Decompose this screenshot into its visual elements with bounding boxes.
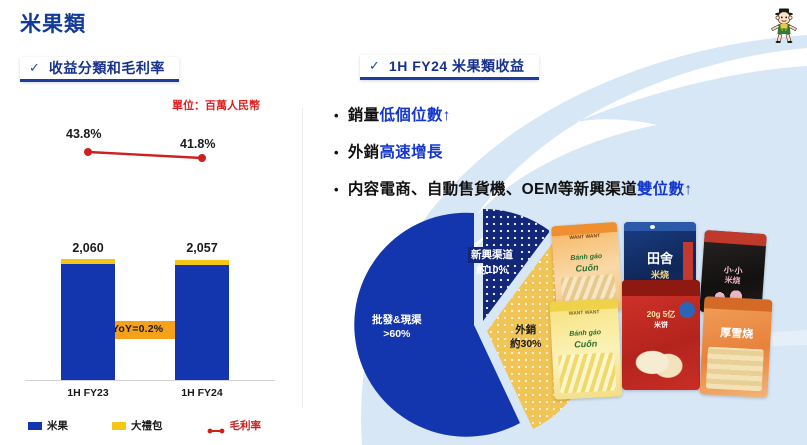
highlights-bullet-list: • 銷量 低個位數↑ • 外銷 高速增長 • 内容電商、自動售貨機、OEM等新興… — [334, 103, 804, 214]
product-image-want-want-red-box: 20g 5亿 米饼 — [622, 280, 700, 390]
bar-segment-rice-cracker-fy24 — [175, 265, 229, 380]
bar-segment-rice-cracker-fy23 — [61, 264, 115, 380]
pie-label-new-channels: 新興渠道 約10% — [468, 247, 516, 277]
slide-canvas: 米果類 ✓ 收益分類和毛利率 ✓ 1H FY24 米果類收益 單位：百萬人民幣 … — [0, 0, 807, 445]
category-label-fy24: 1H FY24 — [170, 387, 234, 399]
bullet-dot-icon: • — [334, 146, 339, 159]
product-name-line1: 厚雪烧 — [702, 326, 771, 342]
bullet-text-highlight: 雙位數↑ — [637, 177, 692, 199]
chart-legend: 米果 大禮包 毛利率 — [28, 418, 261, 433]
legend-label: 大禮包 — [131, 418, 163, 433]
legend-item-gross-margin[interactable]: 毛利率 — [207, 418, 262, 433]
chart-axis-line — [25, 380, 275, 381]
legend-item-gift-pack[interactable]: 大禮包 — [112, 418, 163, 433]
list-item: • 銷量 低個位數↑ — [334, 103, 804, 125]
panel-divider — [302, 108, 303, 408]
want-want-mascot-icon — [764, 3, 804, 43]
bullet-text-plain: 銷量 — [348, 103, 380, 125]
legend-swatch-yellow — [112, 422, 126, 430]
product-name-line2: 米饼 — [622, 322, 700, 330]
section-header-label: 1H FY24 米果類收益 — [389, 56, 525, 76]
check-icon: ✓ — [369, 59, 380, 72]
bullet-dot-icon: • — [334, 183, 339, 196]
legend-label: 米果 — [47, 418, 68, 433]
bullet-text-highlight: 低個位數↑ — [379, 103, 450, 125]
product-name-line2: Cuốn — [552, 337, 620, 351]
list-item: • 外銷 高速增長 — [334, 140, 804, 162]
category-label-fy23: 1H FY23 — [56, 387, 120, 399]
section-header-label: 收益分類和毛利率 — [49, 58, 165, 78]
page-title: 米果類 — [20, 8, 86, 38]
section-header-fy24-revenue[interactable]: ✓ 1H FY24 米果類收益 — [360, 55, 539, 80]
list-item: • 内容電商、自動售貨機、OEM等新興渠道 雙位數↑ — [334, 177, 804, 199]
bar-total-label-fy24: 2,057 — [170, 241, 234, 255]
legend-item-rice-cracker[interactable]: 米果 — [28, 418, 68, 433]
section-header-revenue-breakdown[interactable]: ✓ 收益分類和毛利率 — [20, 57, 179, 82]
bullet-dot-icon: • — [334, 109, 339, 122]
legend-line-marker-red — [207, 422, 225, 430]
bar-total-label-fy23: 2,060 — [56, 241, 120, 255]
yoy-arrow-label: YoY=0.2% — [112, 323, 163, 335]
bullet-text-plain: 内容電商、自動售貨機、OEM等新興渠道 — [348, 177, 637, 199]
pie-label-wholesale: 批發&現渠 >60% — [372, 313, 422, 341]
bullet-text-highlight: 高速增長 — [379, 140, 442, 162]
revenue-bar-chart: 43.8% 41.8% YoY=0.2% 2,060 2,057 1H FY23… — [20, 115, 295, 400]
product-package-images: WANT WANT Bánh gáo Cuốn 田舍 米烧 小·小 米烧 WAN… — [552, 222, 807, 412]
gross-margin-label-fy24: 41.8% — [180, 137, 215, 151]
legend-swatch-blue — [28, 422, 42, 430]
product-image-banh-gao-cuon-yellow: WANT WANT Bánh gáo Cuốn — [549, 298, 622, 399]
product-image-hou-xue-shao: 厚雪烧 — [699, 296, 772, 397]
chart-unit-note: 單位：百萬人民幣 — [172, 97, 260, 113]
check-icon: ✓ — [29, 61, 40, 74]
legend-label: 毛利率 — [230, 418, 262, 433]
pie-label-export: 外銷 約30% — [510, 323, 542, 351]
bullet-text-plain: 外銷 — [348, 140, 380, 162]
gross-margin-label-fy23: 43.8% — [66, 127, 101, 141]
